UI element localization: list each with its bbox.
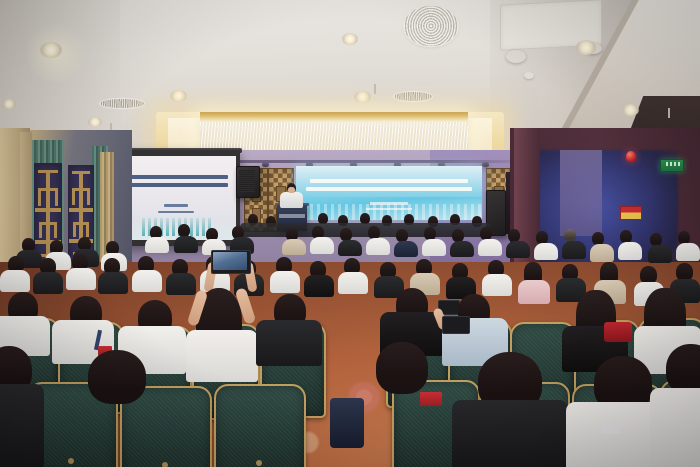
- screen-footer-2: [158, 211, 194, 213]
- fret-bar: [55, 188, 58, 206]
- conference-booklet: [420, 392, 442, 406]
- audience-torso: [132, 270, 162, 292]
- audience-torso: [394, 241, 418, 257]
- audience-torso: [33, 272, 63, 294]
- audience-torso: [506, 241, 530, 258]
- fret-bar: [72, 188, 75, 205]
- presenter-torso: [280, 192, 303, 208]
- chair: [214, 384, 306, 467]
- linear-vent-icon: [100, 99, 144, 108]
- presenter-face: [288, 187, 295, 193]
- fret-bar: [69, 208, 93, 212]
- audience-torso: [166, 273, 196, 295]
- downlight-icon: [342, 33, 358, 45]
- spotlight-icon: [482, 162, 489, 167]
- wall-speaker-grille: [239, 170, 255, 192]
- audience-torso: [562, 241, 586, 259]
- audience-torso: [186, 330, 258, 382]
- audience-torso: [534, 243, 558, 260]
- downlight-icon: [2, 99, 16, 109]
- red-bow-tie: [604, 322, 632, 342]
- audience-torso: [145, 237, 169, 253]
- screen-headline-2: [124, 183, 228, 187]
- projection-screen: [116, 156, 236, 240]
- right-wall-panel: [560, 150, 602, 236]
- sprinkler-icon: [374, 84, 376, 94]
- fret-bar: [54, 222, 57, 238]
- round-vent-icon: [404, 6, 458, 46]
- spotlight-icon: [262, 162, 269, 167]
- fret-bar: [39, 222, 42, 238]
- audience-torso: [304, 275, 334, 297]
- audience-torso: [338, 272, 368, 294]
- led-backdrop-screen: [296, 166, 482, 220]
- podium-nameplate: [279, 214, 305, 218]
- linear-vent-icon: [394, 92, 432, 101]
- audience-torso: [338, 240, 362, 256]
- smartphone: [442, 316, 470, 334]
- chair-stud: [256, 460, 262, 466]
- audience-torso: [518, 280, 550, 304]
- led-headline-1: [310, 179, 468, 183]
- fire-alarm-icon: [626, 151, 636, 162]
- downlight-icon: [40, 42, 62, 58]
- downlight-icon: [354, 91, 371, 103]
- downlight-icon: [622, 104, 639, 116]
- screen-footer-1: [164, 204, 188, 207]
- audience-torso: [650, 388, 700, 467]
- chandelier-frame: [200, 112, 468, 117]
- audience-torso: [0, 270, 30, 292]
- audience-torso: [0, 384, 44, 467]
- audience-torso: [282, 239, 306, 255]
- sprinkler-icon: [668, 108, 670, 118]
- fret-bar: [73, 222, 76, 237]
- fret-bar: [38, 188, 41, 206]
- led-headline-2: [306, 187, 472, 191]
- fret-bar: [87, 188, 90, 205]
- audience-torso: [270, 271, 300, 293]
- audience-head: [666, 344, 700, 394]
- exit-sign-text: [666, 162, 682, 166]
- audience-torso: [366, 238, 390, 255]
- name-badge: [602, 424, 620, 434]
- audience-head: [376, 342, 428, 394]
- audience-torso: [98, 272, 128, 294]
- audience-torso: [450, 241, 474, 257]
- downlight-icon: [170, 90, 187, 102]
- audience-torso: [590, 244, 614, 262]
- audience-torso: [310, 237, 334, 254]
- smoke-detector-icon: [524, 72, 534, 79]
- audience-torso: [66, 268, 96, 290]
- wall-notice-sign: [620, 206, 642, 220]
- audience-torso: [452, 400, 568, 467]
- audience-torso: [422, 239, 446, 256]
- fret-bar: [35, 208, 61, 212]
- audience-torso: [618, 242, 642, 260]
- audience-torso: [256, 320, 322, 366]
- audience-torso: [648, 245, 672, 263]
- downlight-icon: [576, 40, 596, 55]
- fret-bar: [86, 222, 89, 237]
- conference-hall-photo: [0, 0, 700, 467]
- audience-torso: [174, 236, 198, 253]
- screen-headline-1: [124, 175, 228, 179]
- smartphone-screen: [213, 252, 247, 270]
- wall-wash-light: [506, 50, 526, 63]
- audience-torso: [676, 243, 700, 261]
- bag: [330, 398, 364, 448]
- downlight-icon: [88, 117, 102, 127]
- audience-torso: [478, 239, 502, 256]
- audience-torso: [482, 274, 512, 296]
- fret-bar: [46, 170, 50, 266]
